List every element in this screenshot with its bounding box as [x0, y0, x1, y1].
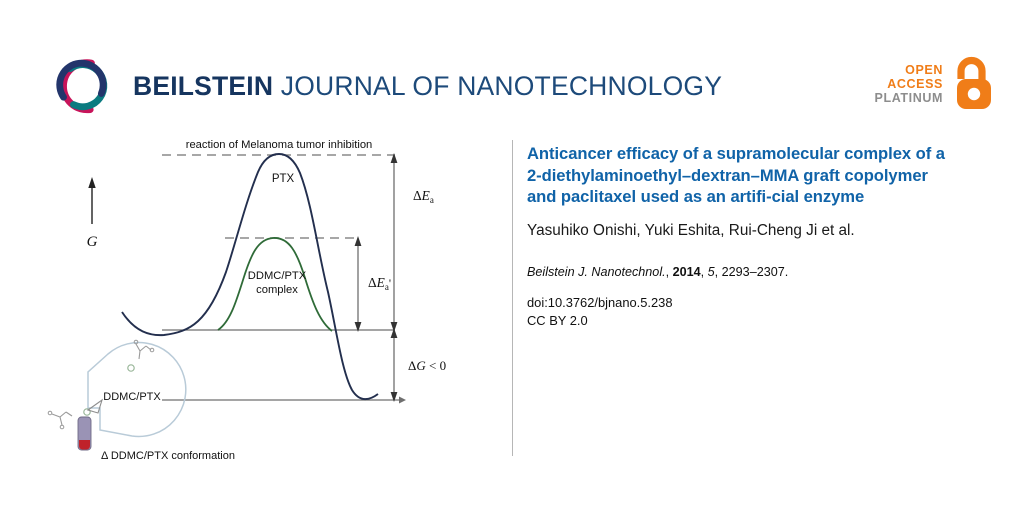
conformation-caption: Δ DDMC/PTX conformation: [101, 450, 235, 462]
article-authors: Yasuhiko Onishi, Yuki Eshita, Rui-Cheng …: [527, 221, 947, 241]
article-teaser-page: BEILSTEIN JOURNAL OF NANOTECHNOLOGY OPEN…: [0, 0, 1024, 512]
molecule-label: DDMC/PTX: [103, 391, 161, 403]
beilstein-circles-logo-icon: [53, 55, 115, 117]
citation-pages: 2293–2307.: [722, 265, 789, 279]
energy-diagram: reaction of Melanoma tumor inhibition G …: [40, 132, 490, 462]
ligand-sticks-left: [52, 412, 72, 425]
citation-volume: 5: [708, 265, 715, 279]
x-axis-arrowhead: [399, 397, 406, 404]
article-metadata: Anticancer efficacy of a supramolecular …: [527, 143, 947, 330]
g-axis-arrowhead: [88, 177, 95, 188]
ligand-atom-c: [48, 411, 52, 415]
citation-sep-1: ,: [666, 265, 673, 279]
ligand-sticks-top: [136, 344, 151, 359]
citation-year: 2014: [673, 265, 701, 279]
citation-journal: Beilstein J. Nanotechnol.: [527, 265, 666, 279]
ddmc-ptx-conformation-schematic: DDMC/PTX Δ DDMC/PTX conformation: [48, 340, 235, 462]
delta-g-label: ΔG < 0: [408, 358, 446, 373]
article-license[interactable]: CC BY 2.0: [527, 312, 947, 330]
article-title[interactable]: Anticancer efficacy of a supramolecular …: [527, 143, 947, 208]
binding-site-top: [128, 365, 134, 371]
journal-header: BEILSTEIN JOURNAL OF NANOTECHNOLOGY OPEN…: [0, 0, 1024, 140]
ptx-curve-label: PTX: [272, 173, 295, 185]
column-divider: [512, 140, 513, 456]
delta-ea-prime-label: ΔEa': [368, 275, 391, 292]
delta-ea-prime-arrow-top: [355, 236, 362, 246]
wordmark-rest: JOURNAL OF NANOTECHNOLOGY: [273, 71, 722, 101]
ligand-atom-d: [60, 425, 64, 429]
citation-sep-2: ,: [701, 265, 708, 279]
open-access-text: OPEN ACCESS PLATINUM: [875, 63, 943, 105]
complex-curve-label-line1: DDMC/PTX: [248, 270, 307, 282]
article-doi[interactable]: doi:10.3762/bjnano.5.238: [527, 294, 947, 312]
graphical-abstract: reaction of Melanoma tumor inhibition G …: [40, 132, 490, 462]
polymer-ring-outline: [88, 342, 186, 436]
oa-line-open: OPEN: [905, 63, 943, 77]
open-padlock-icon: [952, 56, 996, 112]
delta-ea-label: ΔEa: [413, 188, 434, 205]
oa-line-platinum: PLATINUM: [875, 91, 943, 105]
complex-curve-label-line2: complex: [256, 284, 298, 296]
diagram-top-caption: reaction of Melanoma tumor inhibition: [186, 139, 373, 151]
oa-line-access: ACCESS: [887, 77, 943, 91]
journal-brand[interactable]: BEILSTEIN JOURNAL OF NANOTECHNOLOGY: [53, 55, 722, 117]
wordmark-bold: BEILSTEIN: [133, 71, 273, 101]
citation-sep-3: ,: [715, 265, 722, 279]
g-axis-label: G: [87, 234, 98, 250]
open-access-badge[interactable]: OPEN ACCESS PLATINUM: [875, 56, 996, 112]
journal-wordmark: BEILSTEIN JOURNAL OF NANOTECHNOLOGY: [133, 73, 722, 100]
article-citation: Beilstein J. Nanotechnol., 2014, 5, 2293…: [527, 264, 947, 281]
drug-capsule-tip: [79, 440, 90, 450]
